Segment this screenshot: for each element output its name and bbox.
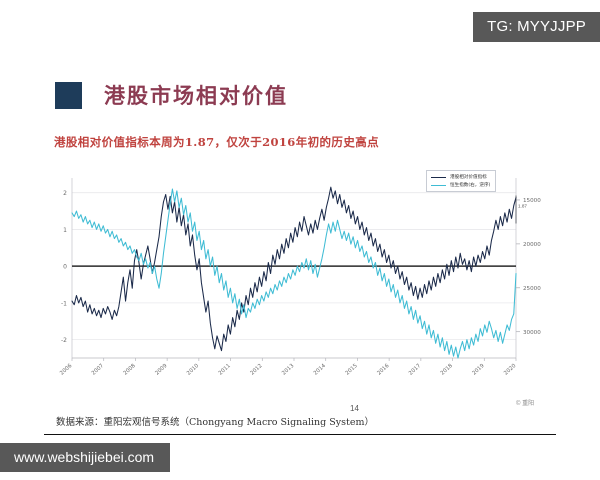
svg-text:2009: 2009 — [154, 363, 169, 377]
svg-text:-1: -1 — [61, 300, 67, 307]
chart-legend: 港股相对价值指标 恒生指数(右，逆序) — [426, 170, 496, 192]
legend-item-1: 恒生指数(右，逆序) — [431, 182, 490, 188]
title-accent-square — [55, 82, 82, 109]
svg-text:25000: 25000 — [523, 286, 541, 292]
telegram-watermark: TG: MYYJJPP — [473, 12, 600, 42]
title-row: 港股市场相对价值 — [55, 80, 288, 110]
relative-value-chart: 210-1-2150002000025000300002006200720082… — [42, 170, 558, 400]
svg-text:2012: 2012 — [249, 363, 263, 377]
svg-text:30000: 30000 — [523, 330, 541, 336]
svg-text:1: 1 — [63, 227, 67, 234]
svg-text:2008: 2008 — [123, 363, 138, 377]
svg-text:2006: 2006 — [59, 363, 74, 377]
svg-text:2013: 2013 — [281, 363, 295, 377]
legend-label-0: 港股相对价值指标 — [450, 174, 487, 180]
svg-text:2017: 2017 — [408, 363, 422, 377]
legend-swatch-navy — [431, 177, 446, 178]
page-number: 14 — [350, 404, 359, 413]
chart-container: 210-1-2150002000025000300002006200720082… — [42, 170, 558, 400]
svg-text:2018: 2018 — [440, 363, 455, 377]
svg-text:2007: 2007 — [91, 363, 105, 377]
slide-root: TG: MYYJJPP 港股市场相对价值 港股相对价值指标本周为1.87，仅次于… — [0, 0, 600, 480]
slide-card: 港股市场相对价值 港股相对价值指标本周为1.87，仅次于2016年初的历史高点 … — [36, 62, 564, 436]
copyright-mark: © 重阳 — [516, 398, 534, 407]
svg-text:20000: 20000 — [523, 242, 541, 248]
svg-text:2014: 2014 — [313, 363, 328, 377]
bottom-rule — [44, 434, 556, 435]
svg-text:1.87: 1.87 — [518, 203, 527, 208]
svg-text:2: 2 — [63, 190, 67, 197]
svg-text:0: 0 — [63, 264, 67, 271]
svg-text:2010: 2010 — [186, 363, 201, 377]
legend-swatch-cyan — [431, 185, 446, 186]
svg-text:2020: 2020 — [503, 363, 518, 377]
svg-text:2019: 2019 — [471, 363, 486, 377]
svg-text:2015: 2015 — [345, 363, 359, 377]
svg-text:-2: -2 — [61, 337, 67, 344]
site-watermark: www.webshijiebei.com — [0, 443, 170, 472]
legend-item-0: 港股相对价值指标 — [431, 174, 490, 180]
page-title: 港股市场相对价值 — [104, 80, 288, 110]
subtitle-text: 港股相对价值指标本周为1.87，仅次于2016年初的历史高点 — [54, 134, 379, 150]
svg-text:2011: 2011 — [218, 363, 232, 377]
source-note: 数据来源：重阳宏观信号系统（Chongyang Macro Signaling … — [56, 414, 374, 428]
svg-text:2016: 2016 — [376, 363, 391, 377]
legend-label-1: 恒生指数(右，逆序) — [450, 182, 490, 188]
